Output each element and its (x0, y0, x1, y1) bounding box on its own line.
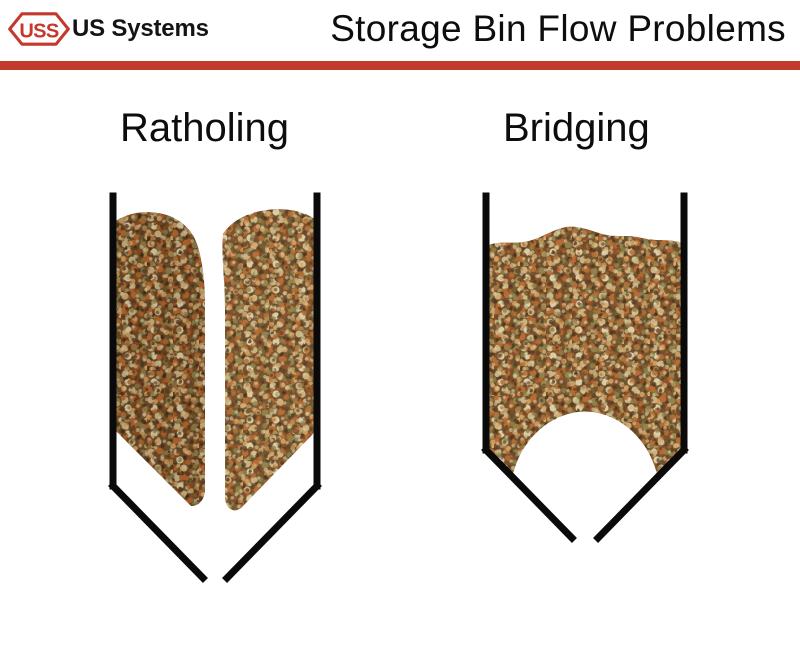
page-header: USS US Systems Storage Bin Flow Problems (0, 0, 800, 60)
figure-caption-bridging: Bridging (503, 108, 650, 148)
storage-bin-ratholing-icon (95, 188, 340, 618)
figure-caption-ratholing: Ratholing (120, 108, 289, 148)
page-title: Storage Bin Flow Problems (330, 7, 786, 51)
storage-bin-bridging-icon (468, 188, 703, 618)
figure-area: Ratholing Bridging (0, 70, 800, 670)
header-divider (0, 61, 800, 70)
brand-logo: USS US Systems (8, 12, 209, 46)
svg-text:USS: USS (19, 21, 59, 43)
company-name: US Systems (72, 17, 209, 41)
bulk-material-bridged (468, 188, 703, 618)
uss-hexagon-badge-icon: USS (8, 12, 70, 46)
